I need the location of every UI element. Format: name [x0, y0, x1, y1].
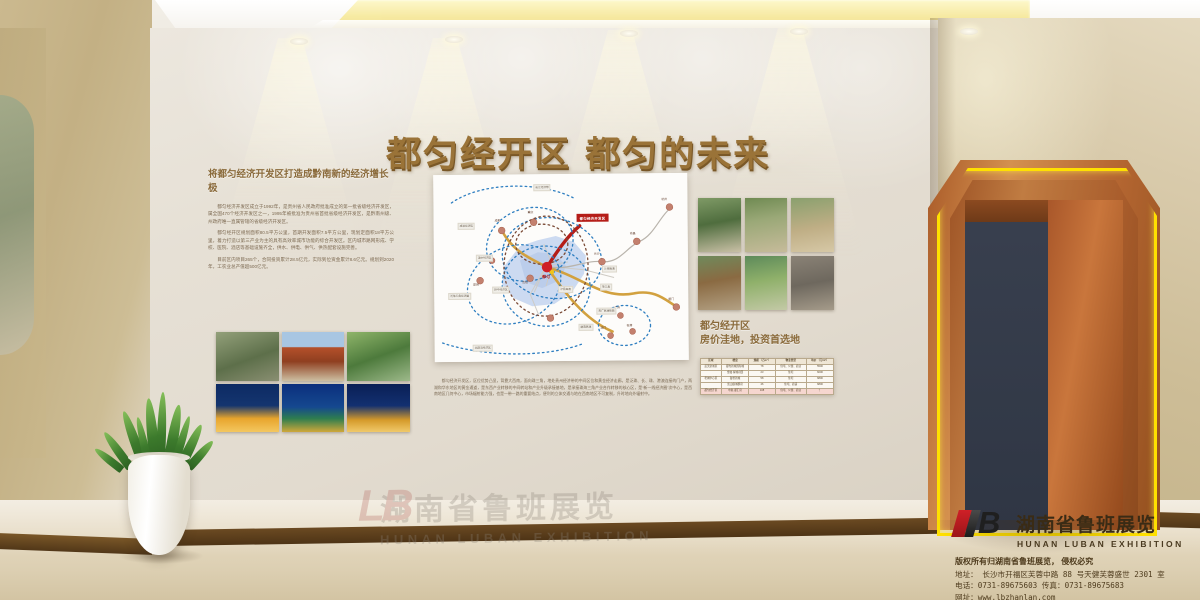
- spotlight-icon: [445, 36, 463, 43]
- spotlight-icon: [960, 28, 978, 35]
- cell-area: 都匀经开区: [701, 389, 722, 395]
- map-corridor-label: 厦蓉高速: [578, 324, 593, 331]
- right-subheading: 都匀经开区 房价洼地，投资首选地: [700, 320, 800, 347]
- spotlight-icon: [790, 28, 808, 35]
- photo-aerial-sports-center: [745, 256, 788, 310]
- body-paragraph: 目前区内项目265个，合同投资累计28.5亿元，实际到位资金累计8.6亿元。规划…: [208, 256, 394, 271]
- table-row: 都匀经开区中航·都汇府108住宅、公寓、商业？: [701, 389, 834, 395]
- map-hub-label: 都匀: [542, 274, 550, 280]
- photo-temple-courtyard: [698, 256, 741, 310]
- wall-lead-heading: 将都匀经济开发区打造成黔南新的经济增长极: [208, 168, 394, 196]
- footer-website[interactable]: 网址：www.lbzhanlan.com: [955, 592, 1195, 600]
- cell-scale: 108: [749, 389, 775, 395]
- cell-project: 中航·都汇府: [721, 389, 749, 395]
- map-corridor-label: 泛珠三角经济圈: [448, 293, 471, 300]
- left-wall-art-panel: [0, 95, 34, 355]
- photo-plaza-stairway: [745, 198, 788, 252]
- map-corridor-label: 贵广高速铁路: [596, 308, 616, 315]
- map-corridor-label: 珠三角: [600, 284, 612, 291]
- map-corridor-label: 北部湾经济区: [473, 345, 493, 352]
- footer-brand-zh: 湖南省鲁班展览: [1016, 510, 1156, 537]
- cell-price: ？: [806, 389, 833, 395]
- map-city-label: 贵阳: [522, 280, 528, 284]
- body-paragraph: 都匀经济开发区成立于1992年，是贵州省人民政府批准成立的第一批省级经济开发区，…: [208, 203, 394, 225]
- right-photo-grid: [698, 198, 834, 310]
- map-description-text: 都匀经济开发区，区位优势凸显，背靠大西南，面向珠三角，地处贵州经济带的中间区位和…: [434, 378, 692, 398]
- spotlight-icon: [290, 38, 308, 45]
- wall-body-text: 都匀经济开发区成立于1992年，是贵州省人民政府批准成立的第一批省级经济开发区，…: [208, 203, 394, 275]
- luban-logo-icon: B: [955, 508, 1009, 538]
- table-body: 蓝天新城区都匀新城国际城78住宅、公寓、商业5500金融·绿城府邸23住宅600…: [701, 365, 834, 395]
- right-subheading-line2: 房价洼地，投资首选地: [700, 334, 800, 348]
- right-subheading-line1: 都匀经开区: [700, 320, 800, 334]
- spotlight-icon: [620, 30, 638, 37]
- footer-brand: B 湖南省鲁班展览 HUNAN LUBAN EXHIBITION 版权所有归湖南…: [955, 508, 1195, 600]
- map-city-label: 成都: [495, 219, 501, 223]
- map-city-label: 南昌: [630, 231, 636, 235]
- photo-park-entrance: [698, 198, 741, 252]
- wall-title: 都匀经开区 都匀的未来: [386, 126, 770, 177]
- photo-night-city-lights: [216, 384, 279, 433]
- map-corridor-label: 滇中经济区: [476, 255, 493, 262]
- map-city-label: 澳门: [601, 326, 607, 330]
- doorway[interactable]: [928, 160, 1160, 530]
- photo-ancient-hall: [282, 332, 345, 381]
- body-paragraph: 都匀经开区规划面积80.5平方公里，首期开发面积7.5平方公里，现划定面积18平…: [208, 229, 394, 251]
- left-photo-grid: [216, 332, 410, 432]
- photo-night-river-bridge: [282, 384, 345, 433]
- footer-address: 地址： 长沙市开福区芙蓉中路 88 号天健芙蓉盛世 2301 室: [955, 569, 1195, 580]
- photo-old-town-rooftops: [791, 256, 834, 310]
- photo-aerial-city: [216, 332, 279, 381]
- cell-type: 住宅、公寓、商业: [775, 389, 806, 395]
- map-city-label: 杭州: [661, 197, 667, 201]
- footer-brand-en: HUNAN LUBAN EXHIBITION: [1017, 539, 1195, 549]
- map-city-label: 厦门: [668, 297, 674, 301]
- footer-copyright: 版权所有归湖南省鲁班展览， 侵权必究: [955, 556, 1195, 567]
- map-corridor-label: 沪昆高速: [558, 286, 573, 293]
- exhibition-hall-render: LB 湖南省鲁班展览 HUNAN LUBAN EXHIBITION 都匀经开区 …: [0, 0, 1200, 600]
- map-city-label: 重庆: [527, 210, 533, 214]
- map-graphic: [433, 173, 689, 362]
- photo-village-street: [791, 198, 834, 252]
- footer-phone: 电话：0731-89675603 传真：0731-89675683: [955, 580, 1195, 591]
- photo-riverside-park: [347, 332, 410, 381]
- photo-night-waterfront: [347, 384, 410, 433]
- map-corridor-label: 长江经济带: [533, 184, 550, 191]
- map-city-label: 昆明: [473, 283, 479, 287]
- map-corridor-label: 兰海高速: [602, 266, 617, 273]
- map-corridor-label: 黔中经济区: [492, 286, 509, 293]
- map-corridor-label: 成渝经济区: [458, 223, 475, 230]
- map-city-label: 长沙: [594, 252, 600, 256]
- map-callout: 都匀经济开发区: [577, 214, 609, 222]
- map-city-label: 香港: [626, 323, 632, 327]
- door-panel[interactable]: [1048, 200, 1123, 530]
- regional-map-panel: 都匀经济开发区 成都 重庆 贵阳 昆明 长沙 南昌 杭州 厦门 广州 香港 澳门…: [433, 173, 689, 362]
- housing-price-table: 区域 楼盘 规模 （万m²） 物业类型 均价 （元/m²） 蓝天新城区都匀新城国…: [700, 358, 834, 395]
